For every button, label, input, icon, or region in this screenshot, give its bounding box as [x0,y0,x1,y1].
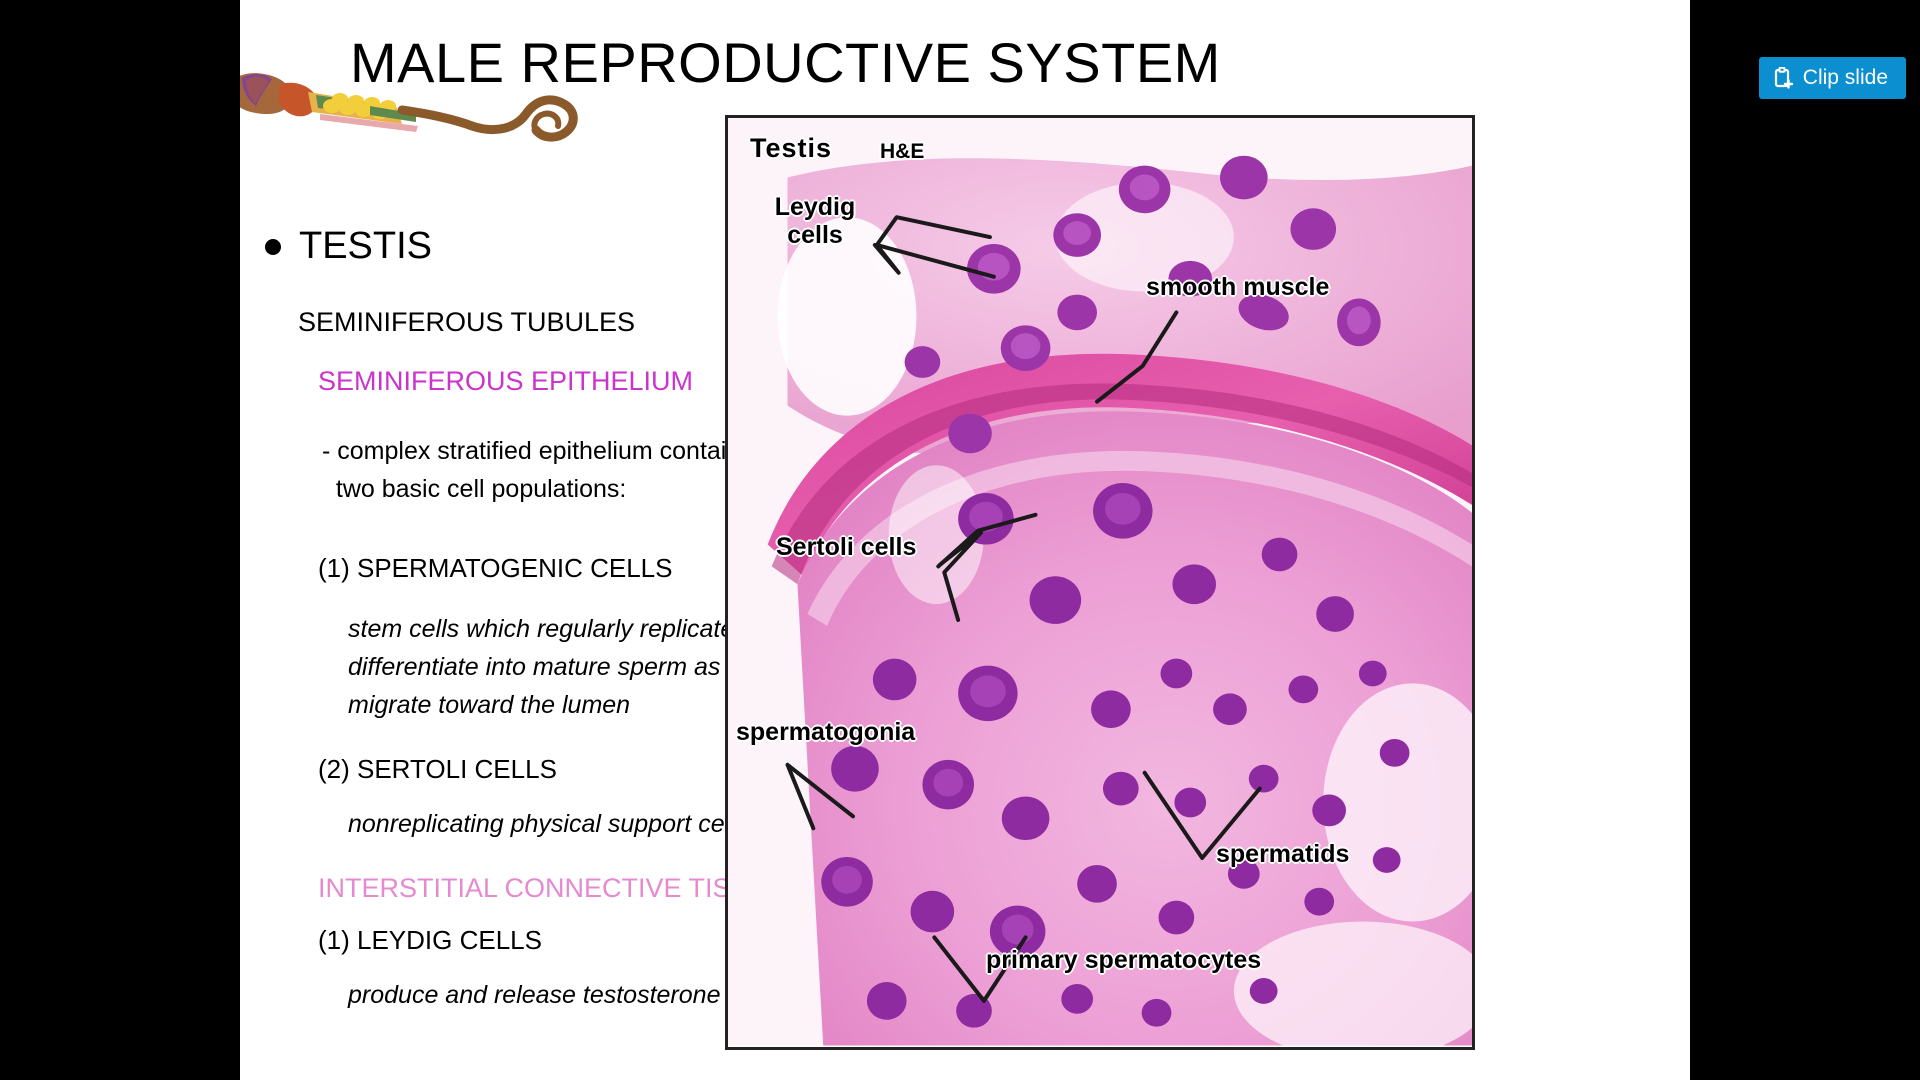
subheading-seminiferous-tubules: SEMINIFEROUS TUBULES [298,307,635,338]
tissue-image [728,118,1472,1046]
heading-interstitial-connective-tissue: INTERSTITIAL CONNECTIVE TISSUE [318,873,786,904]
slide-viewer: MALE REPRODUCTIVE SYSTEM TESTIS [0,0,1920,1080]
clip-slide-button[interactable]: Clip slide [1759,57,1906,99]
micrograph-caption-main: Testis [750,133,832,163]
histology-micrograph: Testis H&E Leydig cells smooth muscle Se… [725,115,1475,1050]
clip-slide-label: Clip slide [1803,66,1888,90]
bullet-dot-icon [265,239,281,255]
label-spermatids: spermatids [1216,840,1349,868]
item-spermatogenic-cells: (1) SPERMATOGENIC CELLS [318,553,672,584]
heading-seminiferous-epithelium: SEMINIFEROUS EPITHELIUM [318,366,693,397]
clipboard-plus-icon [1773,67,1794,89]
presentation-slide: MALE REPRODUCTIVE SYSTEM TESTIS [240,0,1690,1080]
label-spermatogonia: spermatogonia [736,718,915,746]
label-sertoli-cells: Sertoli cells [776,533,916,561]
sertoli-description: nonreplicating physical support cells [348,810,748,839]
label-leydig-cells: Leydig cells [750,193,880,249]
spermatogenic-description: stem cells which regularly replicate and… [348,610,783,724]
item-leydig-cells: (1) LEYDIG CELLS [318,925,542,956]
label-smooth-muscle: smooth muscle [1146,273,1329,301]
leydig-description: produce and release testosterone [348,981,720,1010]
sperm-diagram-icon [240,62,640,152]
item-sertoli-cells: (2) SERTOLI CELLS [318,754,557,785]
label-primary-spermatocytes: primary spermatocytes [986,946,1261,974]
bullet-testis: TESTIS [265,225,432,268]
epithelium-description: - complex stratified epithelium containi… [322,432,774,508]
bullet-testis-label: TESTIS [299,225,432,268]
micrograph-caption-stain: H&E [880,140,924,164]
